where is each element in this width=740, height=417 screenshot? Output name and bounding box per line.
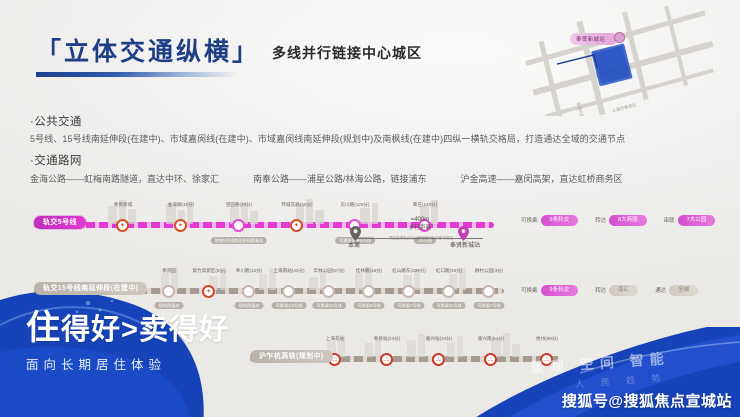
walking-distance-widget: ≈400m 步行距离 项目距离轨交站点步行约 5分钟即可抵达 本案 奉贤新城站 [340, 208, 500, 254]
tag-key: 转达 [592, 286, 609, 294]
metro15-station-marker[interactable] [282, 285, 295, 298]
brand-headline: 住得好>卖得好 [26, 311, 229, 345]
road-section-heading: ·交通路网 [30, 152, 718, 168]
tag-key: 转达 [592, 216, 609, 224]
transit-section-text: 5号线、15号线南延伸段(在建中)、市域嘉闵线(在建中)、市域嘉闵线南延伸段(规… [30, 133, 718, 145]
hsr-station-name: 上海东站 [326, 336, 344, 342]
metro15-badge: 轨交15号线南延伸段(在建中) [34, 282, 147, 295]
metro15-tag: 通达 全城 [652, 285, 698, 296]
tag-value: 5条轨交 [541, 215, 579, 226]
metro15-station-note: 可换乘7号线 [393, 302, 424, 309]
metro5-station-name: 环城东路(50分) [281, 202, 312, 208]
hsr-station-marker[interactable]: ⛬ [380, 353, 393, 366]
metro15-station-note: 可换乘7号线 [473, 302, 504, 309]
metro5-station-marker[interactable]: ✦ [116, 219, 129, 232]
metro5-station-name: 奉贤新城 [114, 202, 132, 208]
road-item: 沪金高速——嘉闵高架，直达虹桥商务区 [461, 172, 623, 185]
metro5-tag: 转达 8大商圈 [592, 215, 647, 226]
tag-key: 串联 [661, 216, 678, 224]
svg-text:·: · [641, 69, 643, 73]
svg-text:·: · [633, 38, 635, 42]
metro15-station-marker[interactable] [482, 285, 495, 298]
metro5-station-marker[interactable] [232, 219, 245, 232]
tag-value: 8大商圈 [609, 215, 647, 226]
metro15-station-note: 可换乘11号线 [432, 302, 465, 309]
brand-text: 住得好>卖得好 面向长期居住体验 [26, 311, 229, 373]
walk-destination-label: 奉贤新城站 [450, 240, 480, 249]
tag-key: 可换乘 [518, 216, 541, 224]
brand-headline-part: 得好 [61, 314, 121, 346]
title-underline-rule [36, 72, 238, 77]
svg-text:上海市奉贤区: 上海市奉贤区 [611, 101, 637, 114]
origin-pin-icon [350, 226, 361, 241]
metro5-station-marker[interactable]: ✦ [290, 219, 303, 232]
page-title: 「立体交通纵横」 [36, 40, 260, 65]
metro5-station-name: 望园路(20分) [226, 202, 253, 208]
tag-key: 通达 [652, 286, 669, 294]
hsr-badge: 沪乍杭高铁(规划中) [250, 350, 333, 363]
watermark-account-name: 搜狐号@搜狐焦点宣城站 [562, 390, 732, 411]
road-list: 金海公路——虹梅南路隧道，直达中环、徐家汇 南奉公路——浦星公路/林海公路，链接… [30, 172, 718, 185]
destination-pin-icon [458, 226, 469, 241]
metro15-station-name: 奉贤园 [162, 268, 176, 274]
metro15-station-note: 可换乘1/3号线 [272, 302, 307, 309]
body-copy: ·公共交通 5号线、15号线南延伸段(在建中)、市域嘉闵线(在建中)、市域嘉闵线… [30, 113, 718, 185]
tag-key: 可换乘 [518, 286, 541, 294]
walk-distance-caption: 步行距离 [388, 223, 452, 231]
tag-value: 南汇 [609, 285, 638, 296]
metro15-station-name: 顾村公园(3分) [475, 268, 504, 274]
road-item: 南奉公路——浦星公路/林海公路，链接浦东 [253, 172, 427, 185]
metro15-station-name: 奉川路(12分) [236, 268, 263, 274]
road-item: 金海公路——虹梅南路隧道，直达中环、徐家汇 [30, 172, 219, 185]
tag-value: 全城 [669, 285, 698, 296]
tag-value: 7大公园 [678, 215, 716, 226]
svg-text:·: · [643, 76, 645, 80]
metro5-tag-group: 可换乘 5条轨交 转达 8大商圈 串联 7大公园 [518, 215, 715, 226]
tag-value: 9条轨交 [541, 285, 579, 296]
brand-headline-separator: > [121, 314, 139, 346]
metro5-station-name: 金海湖(10分) [168, 202, 195, 208]
metro15-station-marker[interactable] [362, 285, 375, 298]
brand-subline: 面向长期居住体验 [26, 354, 229, 373]
map-station-marker-icon [614, 32, 625, 43]
metro15-station-marker[interactable] [322, 285, 335, 298]
svg-text:·: · [635, 45, 637, 49]
walk-distance-value: ≈400m 步行距离 [388, 217, 452, 231]
svg-text:·: · [637, 53, 639, 57]
metro15-station-marker[interactable] [402, 285, 415, 298]
metro5-tag: 串联 7大公园 [661, 215, 716, 226]
metro5-badge: 轨交5号线 [34, 216, 86, 229]
metro15-station-name: 桂林路(16分) [356, 268, 383, 274]
metro15-tag-group: 可换乘 9条轨交 转达 南汇 通达 全城 [518, 285, 698, 296]
metro15-station-name: 虹口路(26分) [436, 268, 463, 274]
hsr-station-name: 奉贤站(24分) [374, 336, 401, 342]
metro15-tag: 转达 南汇 [592, 285, 638, 296]
brand-headline-part: 卖得好 [139, 314, 229, 346]
watermark: 景观 空间 智能 人 居 趋 势 搜狐号@搜狐焦点宣城站 [440, 327, 740, 417]
brand-headline-part: 住 [26, 309, 61, 347]
metro15-station-marker[interactable] [442, 285, 455, 298]
metro5-station-marker[interactable]: ✦ [174, 219, 187, 232]
metro15-station-name: 上海南站(43分) [273, 268, 304, 274]
header: 「立体交通纵横」 多线并行链接中心城区 [36, 40, 422, 77]
metro5-station-transfer-note: 地铁5号线南延伸线换乘站 [211, 237, 267, 244]
metro15-tag: 可换乘 9条轨交 [518, 285, 578, 296]
metro15-station-note: 可换乘12号线 [312, 302, 346, 309]
page-subtitle: 多线并行链接中心城区 [272, 43, 422, 65]
metro15-station-note: 可换乘9号线 [353, 302, 384, 309]
metro15-station-name: 紫竹高新区(5分) [192, 268, 225, 274]
metro15-station-name: 虹山路东(226分) [392, 268, 426, 274]
map-station-label: 奉贤新城站 [570, 33, 617, 45]
map-inset-svg: 金海公路 上海市奉贤区 ··· ··· ··· [518, 4, 728, 116]
walk-origin-label: 本案 [348, 240, 360, 249]
metro5-tag: 可换乘 5条轨交 [518, 215, 578, 226]
metro15-station-name: 华林公园(57分) [313, 268, 344, 274]
location-map-inset: 金海公路 上海市奉贤区 ··· ··· ··· 奉贤新城站 [518, 4, 728, 116]
slide-canvas: 「立体交通纵横」 多线并行链接中心城区 ·公共交通 5号线、15号线南延伸段(在… [0, 0, 740, 417]
walk-note: 项目距离轨交站点步行约 5分钟即可抵达 [386, 236, 456, 241]
